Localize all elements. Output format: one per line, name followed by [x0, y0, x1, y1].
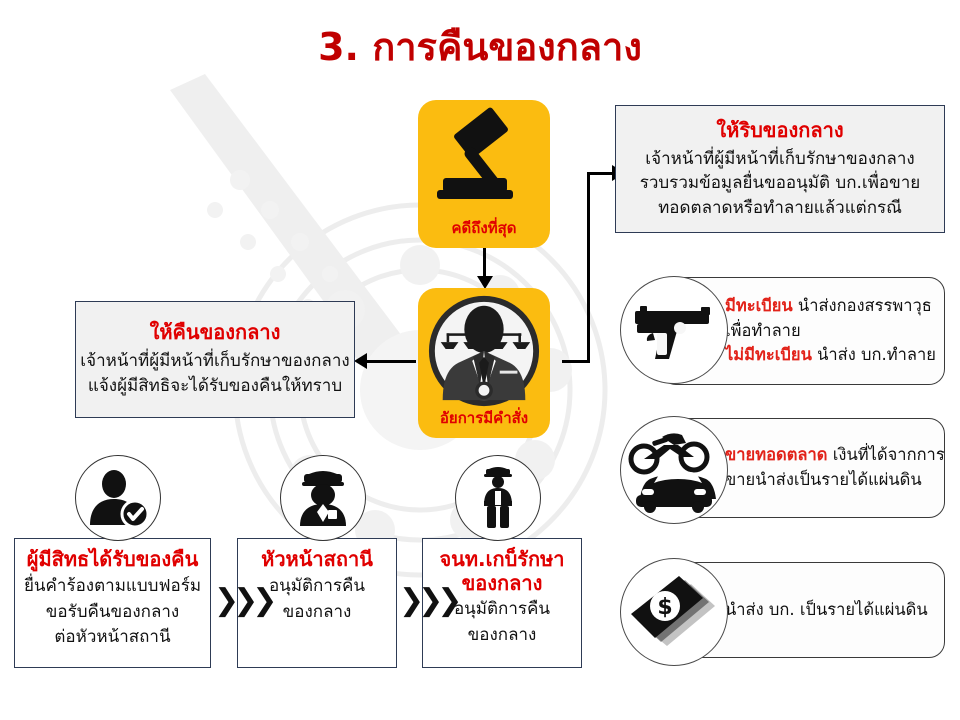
outcome-vehicles-line-1-rest: เงินที่ได้จากการ: [828, 445, 945, 464]
infographic-canvas: 3. การคืนของกลาง คดีถึงที่สุด: [0, 0, 960, 720]
outcome-weapons-line-1-red: มีทะเบียน: [725, 296, 793, 315]
police-officer-badge: [455, 455, 541, 541]
vehicles-badge: [620, 416, 728, 524]
police-chief-badge: [280, 455, 366, 541]
return-box-line-1: เจ้าหน้าที่ผู้มีหน้าที่เก็บรักษาของกลาง: [80, 349, 349, 374]
police-chief-icon: [292, 468, 354, 528]
workflow-step-1-line-1: ยื่นคำร้องตามแบบฟอร์ม: [24, 574, 201, 600]
workflow-step-2-line-1: อนุมัติการคืน: [269, 574, 365, 600]
svg-text:$: $: [657, 595, 672, 620]
workflow-step-1-heading: ผู้มีสิทธได้รับของคืน: [27, 547, 198, 571]
outcome-vehicles-line-1-red: ขายทอดตลาด: [725, 445, 828, 464]
workflow-step-2-line-2: ของกลาง: [283, 600, 352, 626]
workflow-step-1-line-2: ขอรับคืนของกลาง: [46, 600, 179, 626]
return-box-line-2: แจ้งผู้มีสิทธิจะได้รับของคืนให้ทราบ: [88, 374, 342, 399]
money-badge: $: [620, 558, 728, 666]
outcome-weapons-line-3: ไม่มีทะเบียน นำส่ง บก.ทำลาย: [725, 343, 944, 368]
workflow-step-3-heading-2: ของกลาง: [462, 571, 543, 595]
verified-person-badge: [75, 455, 161, 541]
workflow-separator-2: ❯❯❯: [399, 586, 456, 616]
pistol-icon: [631, 297, 717, 363]
connector-prosecutor-right: [562, 360, 590, 363]
outcome-vehicles-line-1: ขายทอดตลาด เงินที่ได้จากการ: [725, 443, 944, 468]
node-case-final-label: คดีถึงที่สุด: [418, 216, 550, 240]
connector-right-up: [587, 173, 590, 363]
outcome-vehicles-line-2: ขายนำส่งเป็นรายได้แผ่นดิน: [725, 468, 944, 493]
workflow-step-2-heading: หัวหน้าสถานี: [261, 547, 373, 571]
forfeit-box-line-3: ทอดตลาดหรือทำลายแล้วแต่กรณี: [658, 196, 902, 221]
vehicles-icon: [628, 427, 720, 513]
connector-prosecutor-to-return: [366, 360, 416, 363]
pistol-badge: [620, 276, 728, 384]
node-case-final[interactable]: คดีถึงที่สุด: [418, 100, 550, 248]
verified-person-icon: [86, 469, 150, 527]
outcome-weapons-line-2: เพื่อทำลาย: [725, 319, 944, 344]
outcome-money-line-1: นำส่ง บก. เป็นรายได้แผ่นดิน: [725, 598, 944, 623]
return-box: ให้คืนของกลาง เจ้าหน้าที่ผู้มีหน้าที่เก็…: [75, 301, 355, 418]
page-title: 3. การคืนของกลาง: [0, 16, 960, 77]
connector-up-to-forfeit: [587, 172, 616, 175]
forfeit-box: ให้ริบของกลาง เจ้าหน้าที่ผู้มีหน้าที่เก็…: [615, 105, 945, 233]
workflow-separator-1: ❯❯❯: [214, 586, 271, 616]
outcome-weapons-line-1-rest: นำส่งกองสรรพาวุธ: [793, 296, 932, 315]
workflow-step-3-line-1: อนุมัติการคืน: [454, 597, 550, 623]
money-icon: $: [629, 576, 719, 648]
outcome-weapons-line-1: มีทะเบียน นำส่งกองสรรพาวุธ: [725, 294, 944, 319]
node-prosecutor-order[interactable]: อัยการมีคำสั่ง: [418, 288, 550, 438]
workflow-step-1-line-3: ต่อหัวหน้าสถานี: [54, 625, 170, 651]
workflow-step-3-heading-1: จนท.เกบ็รักษา: [439, 547, 564, 571]
connector-case-to-prosecutor: [483, 246, 486, 280]
workflow-step-3-line-2: ของกลาง: [468, 623, 537, 649]
forfeit-box-line-1: เจ้าหน้าที่ผู้มีหน้าที่เก็บรักษาของกลาง: [645, 147, 914, 172]
node-prosecutor-order-label: อัยการมีคำสั่ง: [418, 406, 550, 430]
workflow-step-1[interactable]: ผู้มีสิทธได้รับของคืน ยื่นคำร้องตามแบบฟอ…: [14, 538, 211, 668]
return-box-heading: ให้คืนของกลาง: [150, 320, 281, 345]
forfeit-box-line-2: รวบรวมข้อมูลยื่นขออนุมัติ บก.เพื่อขาย: [640, 171, 921, 196]
prosecutor-icon: [425, 292, 543, 410]
gavel-icon: [429, 106, 539, 211]
forfeit-box-heading: ให้ริบของกลาง: [716, 118, 843, 143]
police-officer-icon: [473, 465, 523, 531]
outcome-weapons-line-3-rest: นำส่ง บก.ทำลาย: [812, 345, 936, 364]
outcome-weapons-line-3-red: ไม่มีทะเบียน: [725, 345, 812, 364]
